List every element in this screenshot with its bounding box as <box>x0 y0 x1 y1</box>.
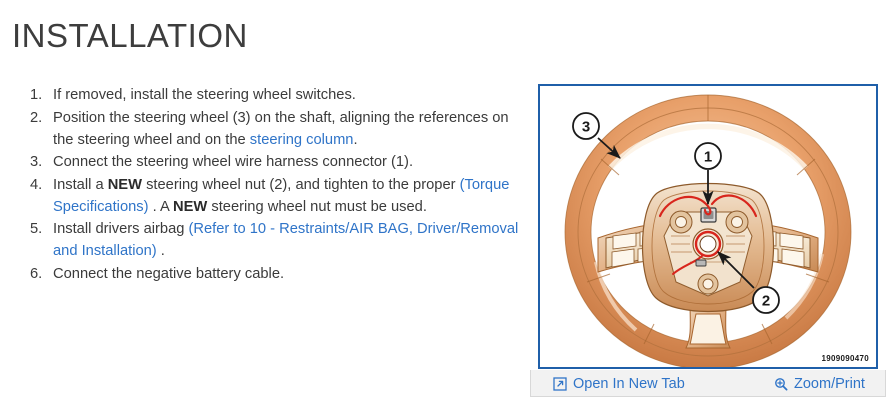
step-number: 3. <box>30 151 48 173</box>
step-text-run: . A <box>149 199 174 215</box>
open-in-new-tab-label: Open In New Tab <box>573 376 685 392</box>
step-number: 4. <box>30 174 48 196</box>
steering-wheel-illustration: 3 1 2 <box>540 86 876 367</box>
step-text: Connect the negative battery cable. <box>53 263 530 285</box>
procedure-step: 3.Connect the steering wheel wire harnes… <box>30 151 530 173</box>
svg-text:3: 3 <box>582 119 590 136</box>
figure-action-bar: Open In New Tab Zoom/Print <box>530 370 886 397</box>
step-text-run: Install drivers airbag <box>53 221 189 237</box>
step-text-run: Connect the steering wheel wire harness … <box>53 154 413 170</box>
figure-image-id: 1909090470 <box>822 354 870 363</box>
procedure-step: 6.Connect the negative battery cable. <box>30 263 530 285</box>
zoom-print-label: Zoom/Print <box>794 376 865 392</box>
step-number: 1. <box>30 84 48 106</box>
step-text-run: Install a <box>53 177 108 193</box>
svg-text:1: 1 <box>704 149 712 166</box>
step-text: If removed, install the steering wheel s… <box>53 84 530 106</box>
step-text-run: If removed, install the steering wheel s… <box>53 87 356 103</box>
step-text: Position the steering wheel (3) on the s… <box>53 107 530 151</box>
step-text-run: steering wheel nut must be used. <box>207 199 427 215</box>
step-text: Install a NEW steering wheel nut (2), an… <box>53 174 530 218</box>
procedure-step: 2.Position the steering wheel (3) on the… <box>30 107 530 151</box>
zoom-print-button[interactable]: Zoom/Print <box>774 373 865 394</box>
emphasis-text: NEW <box>108 177 142 193</box>
procedure-step: 4.Install a NEW steering wheel nut (2), … <box>30 174 530 218</box>
magnifier-plus-icon <box>774 377 788 391</box>
page-title: INSTALLATION <box>12 16 248 56</box>
open-in-new-tab-button[interactable]: Open In New Tab <box>553 373 685 394</box>
emphasis-text: NEW <box>173 199 207 215</box>
step-text-run: . <box>157 243 165 259</box>
step-number: 5. <box>30 218 48 240</box>
procedure-list: 1.If removed, install the steering wheel… <box>30 84 530 285</box>
step-text-run: . <box>353 132 357 148</box>
step-number: 6. <box>30 263 48 285</box>
external-link-icon <box>553 377 567 391</box>
procedure-step: 1.If removed, install the steering wheel… <box>30 84 530 106</box>
reference-link[interactable]: steering column <box>250 132 354 148</box>
step-text-run: steering wheel nut (2), and tighten to t… <box>142 177 460 193</box>
step-text-run: Connect the negative battery cable. <box>53 266 284 282</box>
step-text: Install drivers airbag (Refer to 10 - Re… <box>53 218 530 262</box>
procedure-step: 5.Install drivers airbag (Refer to 10 - … <box>30 218 530 262</box>
svg-text:2: 2 <box>762 293 770 310</box>
step-text: Connect the steering wheel wire harness … <box>53 151 530 173</box>
step-number: 2. <box>30 107 48 129</box>
figure-panel[interactable]: 3 1 2 1909090470 <box>538 84 878 369</box>
